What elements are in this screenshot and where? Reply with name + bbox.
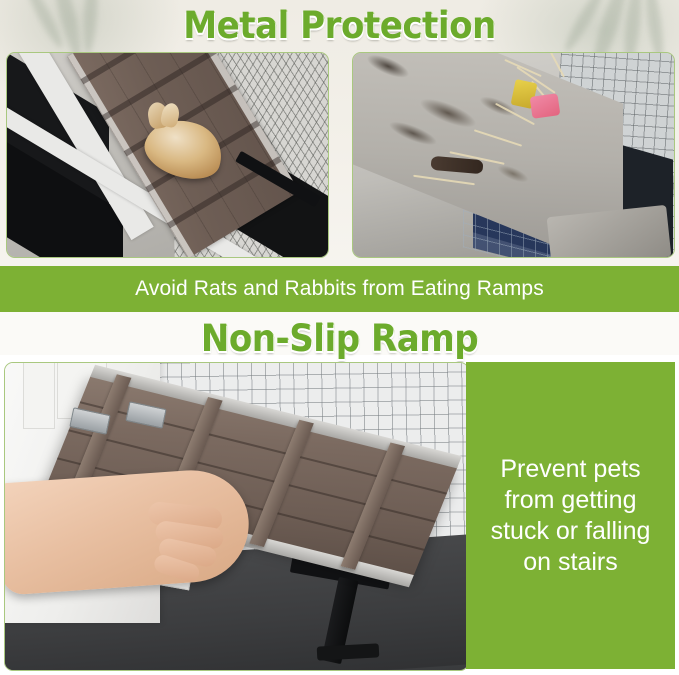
callout-panel: Prevent pets from getting stuck or falli…	[466, 362, 675, 669]
photo-chewed-ramp-damage	[352, 52, 675, 258]
photo-rabbit-on-ramp	[6, 52, 329, 258]
callout-text: Prevent pets from getting stuck or falli…	[483, 454, 659, 578]
callout-line-2: from getting	[491, 485, 651, 516]
infographic-page: Metal Protection	[0, 0, 679, 675]
callout-line-4: on stairs	[491, 547, 651, 578]
page-title-metal-protection: Metal Protection	[27, 4, 652, 48]
hand	[5, 466, 253, 595]
photo-hand-holding-ramp	[4, 362, 469, 671]
page-title-non-slip-ramp: Non-Slip Ramp	[27, 317, 652, 361]
pink-debris	[530, 93, 561, 119]
callout-line-1: Prevent pets	[491, 454, 651, 485]
green-banner: Avoid Rats and Rabbits from Eating Ramps	[0, 266, 679, 312]
callout-line-3: stuck or falling	[491, 516, 651, 547]
banner-text: Avoid Rats and Rabbits from Eating Ramps	[135, 277, 544, 301]
